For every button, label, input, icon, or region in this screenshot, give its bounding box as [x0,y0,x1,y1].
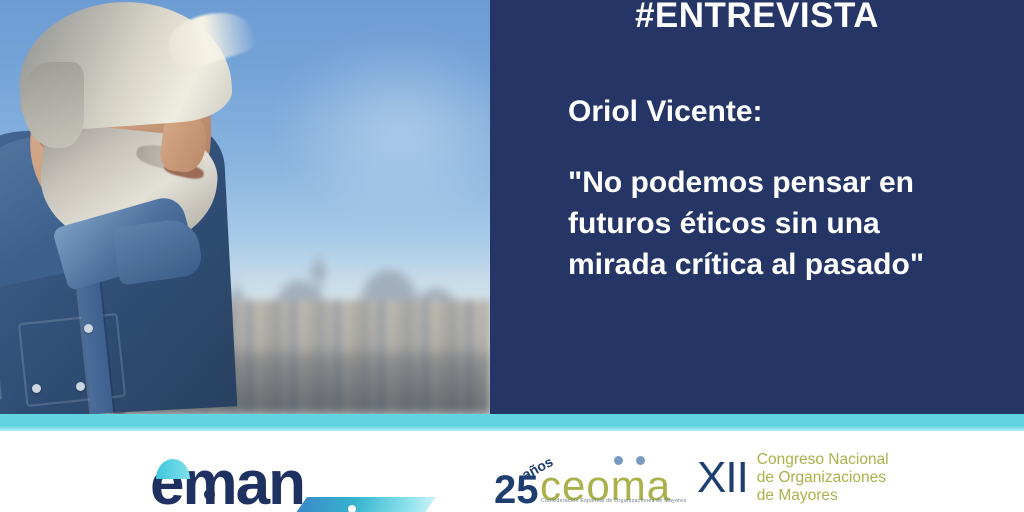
interview-quote-card: #ENTREVISTA Oriol Vicente: "No podemos p… [0,0,1024,512]
eman-logo: eman [150,453,410,512]
eman-swoosh-dot-icon [348,505,356,512]
ceoma-logo: 25 años ceoma Confederación Española de … [494,448,690,512]
congreso-title: Congreso Nacional de Organizaciones de M… [757,451,889,505]
quote-text: "No podemos pensar en futuros éticos sin… [568,163,984,285]
ceoma-dot-icon [636,456,645,465]
shirt-button [76,382,85,391]
congreso-roman-numeral: XII [697,456,748,500]
congreso-title-line-2: de Organizaciones [757,469,889,487]
congreso-title-line-3: de Mayores [757,487,889,505]
congreso-logo: XII Congreso Nacional de Organizaciones … [697,451,889,505]
congreso-title-line-1: Congreso Nacional [757,451,889,469]
speaker-photo [0,0,490,414]
eman-swoosh-icon [286,497,436,512]
quote-panel: #ENTREVISTA Oriol Vicente: "No podemos p… [490,0,1024,414]
shirt-button [32,384,41,393]
eman-dot-icon [204,489,215,500]
person-figure [0,0,340,414]
ceoma-tagline: Confederación Española de Organizaciones… [541,498,686,504]
footer-logo-bar: eman 25 años ceoma Confederación Español… [0,431,1024,512]
shirt-button [84,324,93,333]
speaker-name: Oriol Vicente: [568,95,763,129]
ceoma-dot-icon [614,456,623,465]
hashtag-heading: #ENTREVISTA [490,0,1024,36]
teal-divider [0,414,1024,431]
